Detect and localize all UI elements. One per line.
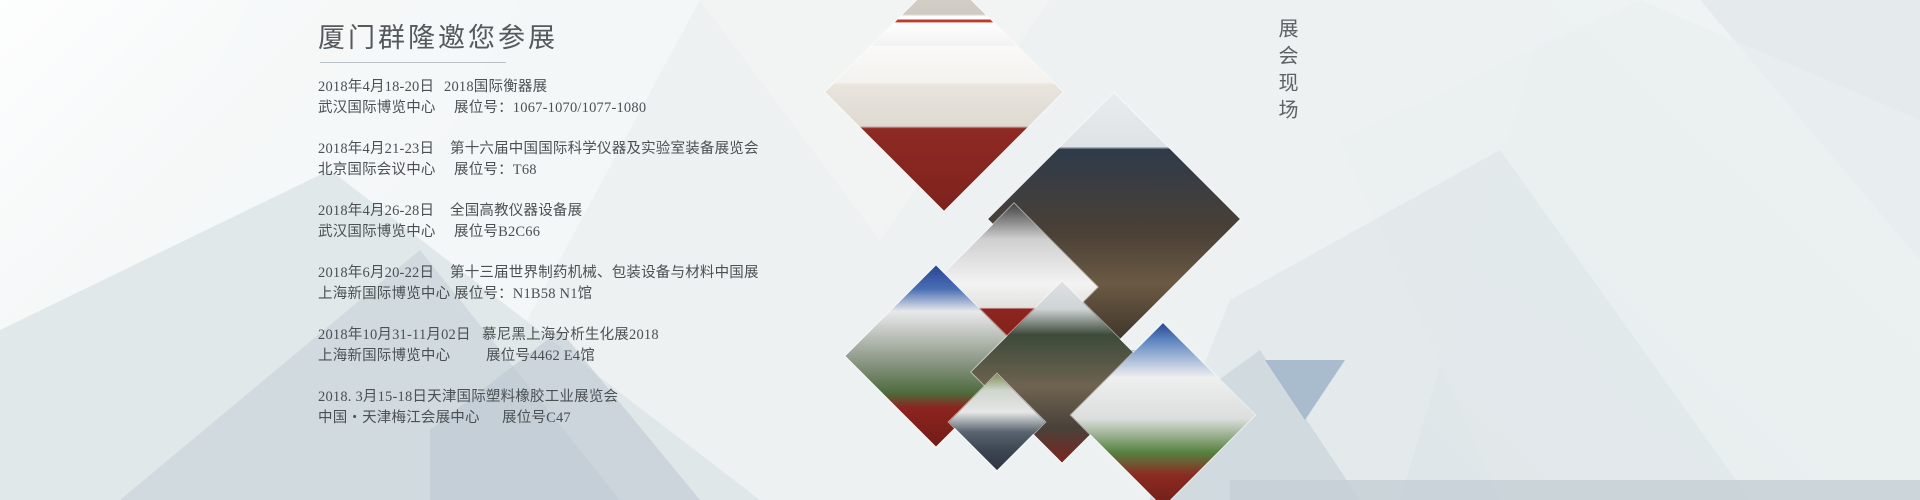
exhibition-banner: 厦门群隆邀您参展 2018年4月18-20日 2018国际衡器展 武汉国际博览中… <box>0 0 1920 500</box>
event-booth: 展位号：N1B58 N1馆 <box>444 284 592 305</box>
event-date: 2018年6月20-22日 <box>318 263 444 284</box>
event-date: 2018年10月31-11月02日 <box>318 325 476 346</box>
event-booth: 展位号B2C66 <box>444 222 540 243</box>
event-date: 2018年4月26-28日 <box>318 201 444 222</box>
title-divider <box>320 62 506 63</box>
event-booth: 展位号4462 E4馆 <box>476 346 595 367</box>
event-booth: 展位号：1067-1070/1077-1080 <box>444 98 646 119</box>
event-name: 第十六届中国国际科学仪器及实验室装备展览会 <box>444 139 759 160</box>
photo-collage <box>830 0 1250 500</box>
event-name: 第十三届世界制药机械、包装设备与材料中国展 <box>444 263 759 284</box>
section-caption-vertical: 展会现场 <box>1272 18 1301 126</box>
event-name: 2018国际衡器展 <box>444 77 547 98</box>
event-name: 慕尼黑上海分析生化展2018 <box>476 325 659 346</box>
event-venue: 上海新国际博览中心 <box>318 346 476 367</box>
event-venue: 武汉国际博览中心 <box>318 222 444 243</box>
event-name: 全国高教仪器设备展 <box>444 201 582 222</box>
event-venue: 中国・天津梅江会展中心 <box>318 408 502 429</box>
event-booth: 展位号：T68 <box>444 160 537 181</box>
event-venue: 北京国际会议中心 <box>318 160 444 181</box>
event-date: 2018. 3月15-18日天津国际塑料橡胶工业展览会 <box>318 387 618 408</box>
event-venue: 上海新国际博览中心 <box>318 284 444 305</box>
event-date: 2018年4月21-23日 <box>318 139 444 160</box>
event-date: 2018年4月18-20日 <box>318 77 444 98</box>
booth-banner-sign <box>842 19 1047 46</box>
event-booth: 展位号C47 <box>502 408 571 429</box>
event-venue: 武汉国际博览中心 <box>318 98 444 119</box>
